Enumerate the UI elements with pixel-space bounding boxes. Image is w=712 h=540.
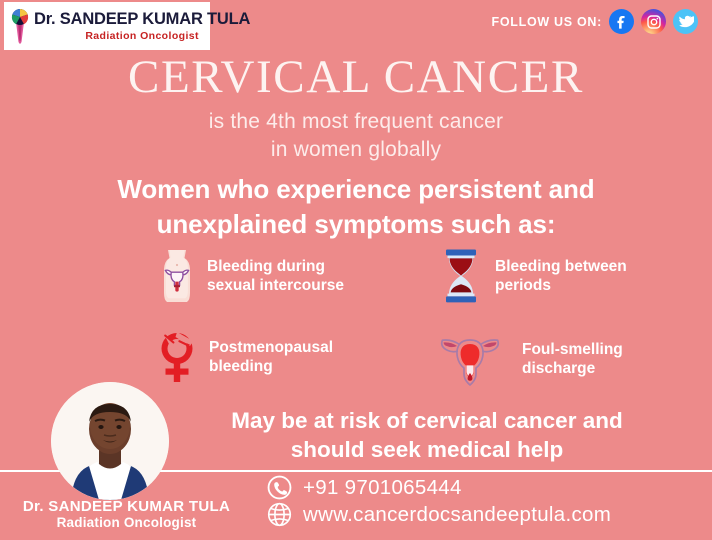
follow-us-group: FOLLOW US ON:: [492, 9, 698, 34]
clinic-logo-icon: [7, 6, 33, 46]
symptom-label: Bleeding during sexual intercourse: [207, 257, 344, 296]
phone-number: +91 9701065444: [303, 476, 462, 500]
symptom-item: Postmenopausal bleeding: [153, 330, 333, 384]
female-torso-uterus-icon: [157, 248, 197, 304]
uterus-discharge-icon: [430, 330, 510, 388]
website-url: www.cancerdocsandeeptula.com: [303, 503, 611, 527]
symptom-label: Postmenopausal bleeding: [209, 338, 333, 377]
symptom-item: Bleeding between periods: [441, 248, 627, 304]
symptom-label: Bleeding between periods: [495, 257, 627, 296]
brand-role: Radiation Oncologist: [34, 31, 250, 42]
hourglass-blood-icon: [441, 248, 481, 304]
brand-text-group: Dr. SANDEEP KUMAR TULA Radiation Oncolog…: [34, 11, 250, 41]
poster-title: CERVICAL CANCER: [0, 54, 712, 101]
risk-message: May be at risk of cervical cancer and sh…: [172, 407, 682, 464]
broken-venus-symbol-icon: [153, 330, 201, 384]
phone-icon: [266, 475, 292, 501]
brand-logo-bar: Dr. SANDEEP KUMAR TULA Radiation Oncolog…: [4, 2, 210, 50]
doctor-portrait: [51, 382, 169, 500]
brand-name: Dr. SANDEEP KUMAR TULA: [34, 11, 250, 28]
contact-block: +91 9701065444 www.cancerdocsandeeptula.…: [266, 474, 611, 528]
doctor-role: Radiation Oncologist: [0, 515, 253, 530]
doctor-name: Dr. SANDEEP KUMAR TULA: [0, 498, 253, 515]
poster-subtitle: is the 4th most frequent cancer in women…: [0, 108, 712, 164]
instagram-icon[interactable]: [641, 9, 666, 34]
symptoms-leadin-text: Women who experience persistent and unex…: [0, 172, 712, 242]
symptom-item: Foul-smelling discharge: [430, 330, 623, 388]
twitter-icon[interactable]: [673, 9, 698, 34]
cervical-cancer-awareness-poster: Dr. SANDEEP KUMAR TULA Radiation Oncolog…: [0, 0, 712, 540]
phone-row[interactable]: +91 9701065444: [266, 474, 611, 501]
symptom-label: Foul-smelling discharge: [522, 340, 623, 379]
globe-icon: [266, 502, 292, 528]
symptom-item: Bleeding during sexual intercourse: [157, 248, 344, 304]
website-row[interactable]: www.cancerdocsandeeptula.com: [266, 501, 611, 528]
follow-us-label: FOLLOW US ON:: [492, 15, 602, 29]
facebook-icon[interactable]: [609, 9, 634, 34]
